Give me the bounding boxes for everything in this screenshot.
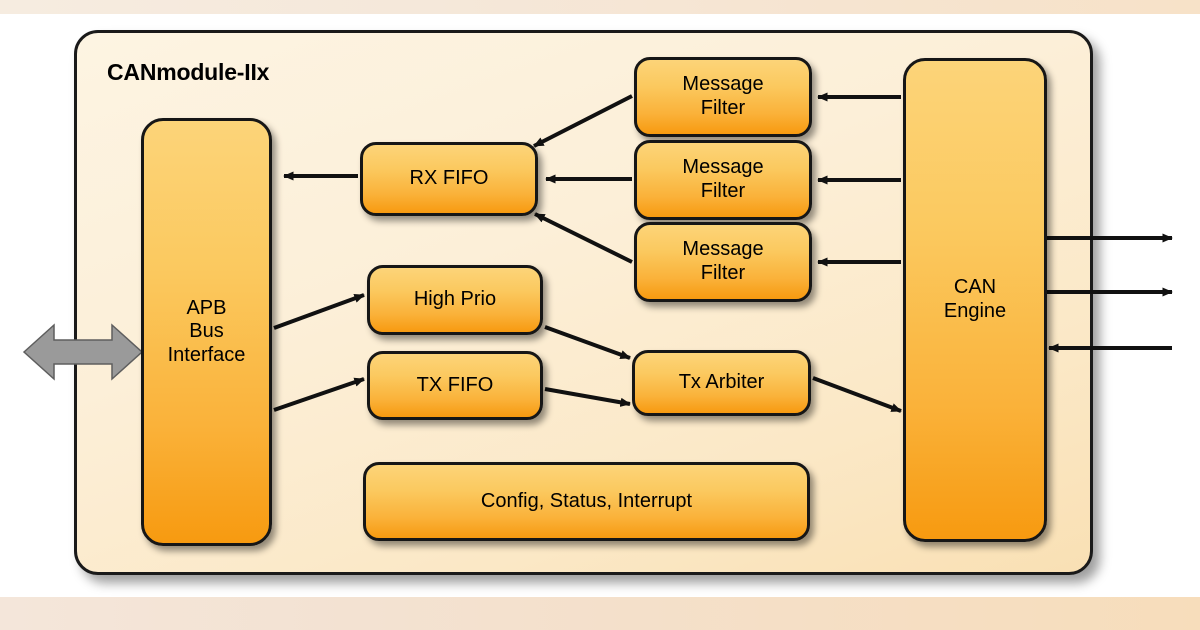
- block-label: MessageFilter: [682, 73, 763, 120]
- block-tx-fifo[interactable]: TX FIFO: [367, 351, 543, 420]
- block-config-status-interrupt[interactable]: Config, Status, Interrupt: [363, 462, 810, 541]
- block-label: High Prio: [414, 288, 496, 312]
- block-apb-bus-interface[interactable]: APBBusInterface: [141, 118, 272, 546]
- block-label: TX FIFO: [417, 374, 494, 398]
- block-label: Tx Arbiter: [679, 371, 765, 395]
- block-message-filter-3[interactable]: MessageFilter: [634, 222, 812, 302]
- page-top-band: [0, 0, 1200, 14]
- module-title: CANmodule-IIx: [107, 59, 269, 86]
- page-bottom-band: [0, 597, 1200, 630]
- block-label: APBBusInterface: [168, 297, 246, 368]
- block-label: CANEngine: [944, 276, 1006, 323]
- diagram-canvas: CANmodule-IIx: [0, 0, 1200, 630]
- block-label: Config, Status, Interrupt: [481, 490, 692, 514]
- block-high-prio[interactable]: High Prio: [367, 265, 543, 335]
- block-tx-arbiter[interactable]: Tx Arbiter: [632, 350, 811, 416]
- block-label: MessageFilter: [682, 156, 763, 203]
- block-message-filter-1[interactable]: MessageFilter: [634, 57, 812, 137]
- block-label: RX FIFO: [410, 167, 489, 191]
- block-can-engine[interactable]: CANEngine: [903, 58, 1047, 542]
- block-label: MessageFilter: [682, 238, 763, 285]
- block-rx-fifo[interactable]: RX FIFO: [360, 142, 538, 216]
- block-message-filter-2[interactable]: MessageFilter: [634, 140, 812, 220]
